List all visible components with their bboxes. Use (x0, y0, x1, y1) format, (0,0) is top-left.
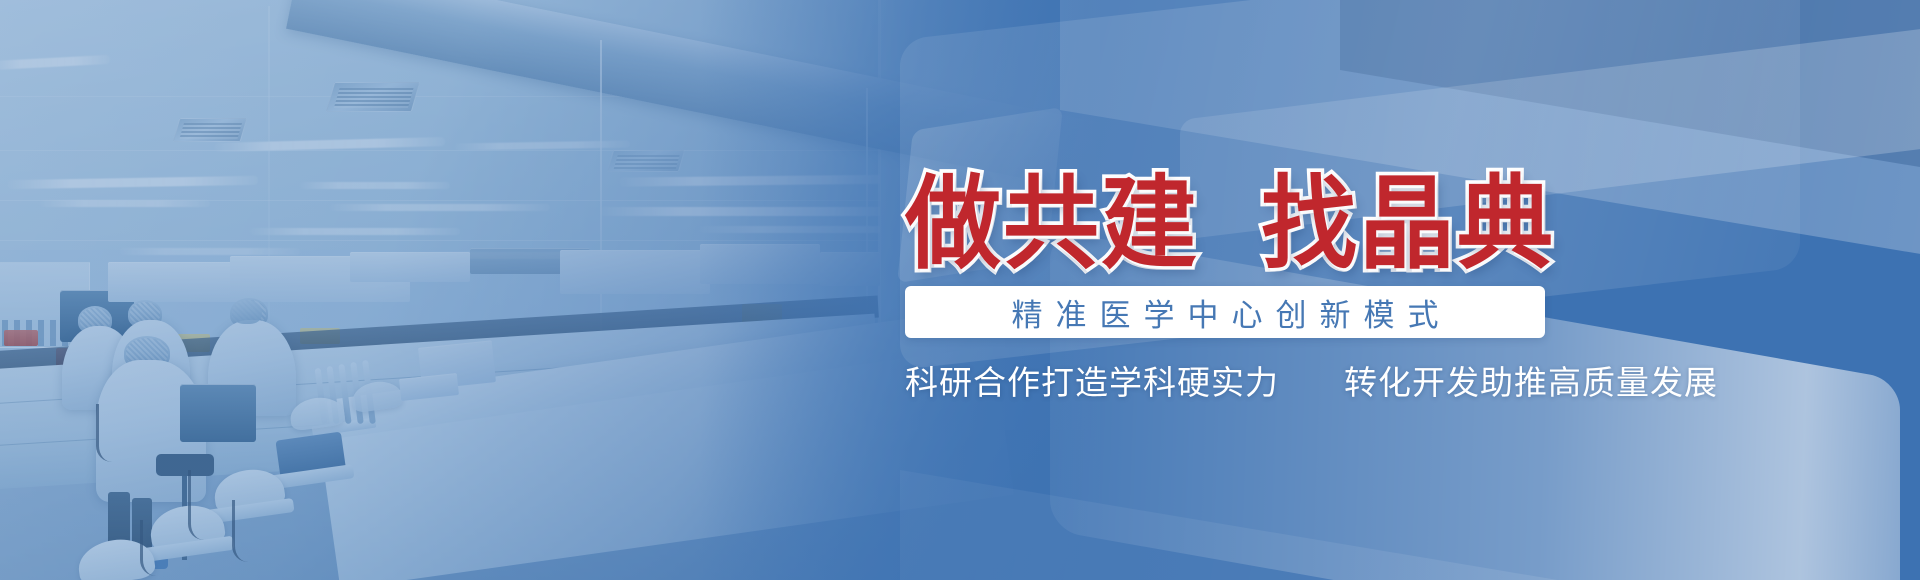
headline-left: 做共建 (905, 173, 1199, 275)
subtitle-bar: 精准医学中心创新模式 (905, 286, 1545, 338)
banner-content: 做共建 找晶典 精准医学中心创新模式 科研合作打造学科硬实力 转化开发助推高质量… (0, 0, 1920, 580)
tagline: 科研合作打造学科硬实力 转化开发助推高质量发展 (905, 356, 1920, 404)
headline-right: 找晶典 (1261, 173, 1555, 275)
tagline-right: 转化开发助推高质量发展 (1344, 363, 1718, 402)
headline: 做共建 找晶典 (905, 173, 1920, 275)
subtitle-text: 精准医学中心创新模式 (999, 290, 1452, 335)
tagline-left: 科研合作打造学科硬实力 (905, 363, 1279, 402)
hero-banner: 做共建 找晶典 精准医学中心创新模式 科研合作打造学科硬实力 转化开发助推高质量… (0, 0, 1920, 580)
